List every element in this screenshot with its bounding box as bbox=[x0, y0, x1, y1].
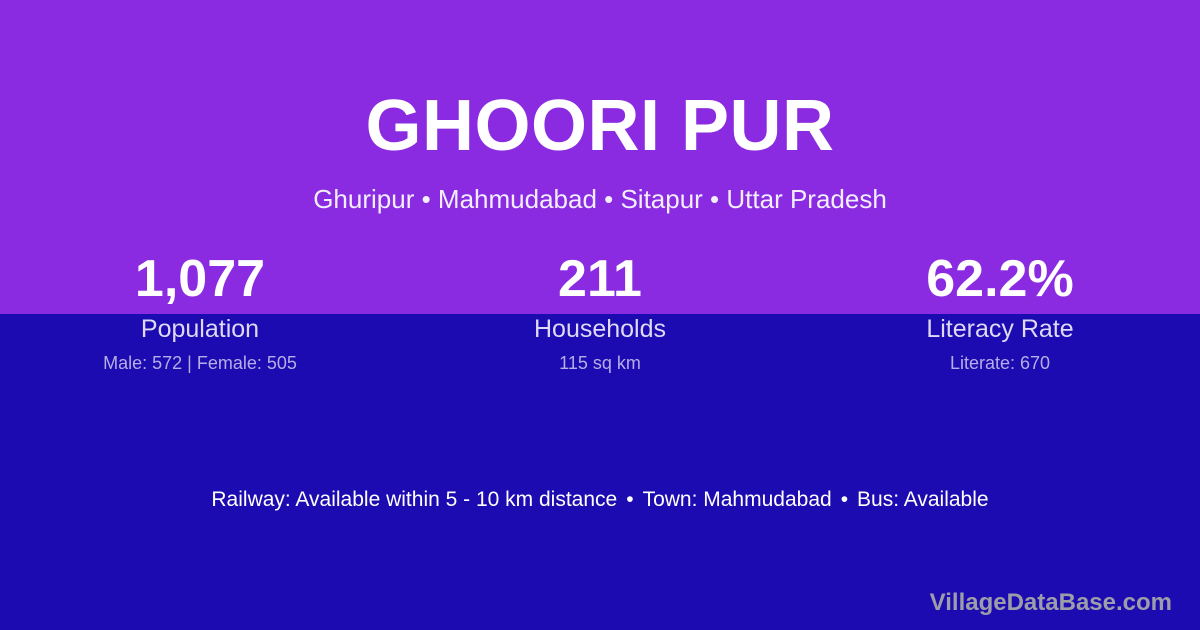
page-title: GHOORI PUR bbox=[0, 86, 1200, 166]
stat-value-literacy-rate: 62.2% bbox=[800, 248, 1200, 310]
stat-value-population: 1,077 bbox=[0, 248, 400, 310]
facilities-summary: Railway: Available within 5 - 10 km dist… bbox=[0, 487, 1200, 513]
stats-row: 1,077 Population Male: 572 | Female: 505… bbox=[0, 248, 1200, 374]
stat-sub-households: 115 sq km bbox=[400, 352, 800, 374]
stat-sub-population: Male: 572 | Female: 505 bbox=[0, 352, 400, 374]
stat-value-households: 211 bbox=[400, 248, 800, 310]
facility-bus: Bus: Available bbox=[857, 488, 989, 511]
stat-label-literacy-rate: Literacy Rate bbox=[800, 314, 1200, 344]
facility-separator-2: • bbox=[832, 487, 857, 513]
facility-railway: Railway: Available within 5 - 10 km dist… bbox=[211, 488, 617, 511]
breadcrumb: Ghuripur • Mahmudabad • Sitapur • Uttar … bbox=[0, 183, 1200, 215]
stat-sub-literacy-rate: Literate: 670 bbox=[800, 352, 1200, 374]
village-info-card: GHOORI PUR Ghuripur • Mahmudabad • Sitap… bbox=[0, 0, 1200, 630]
stat-population: 1,077 Population Male: 572 | Female: 505 bbox=[0, 248, 400, 374]
stat-label-households: Households bbox=[400, 314, 800, 344]
stat-literacy-rate: 62.2% Literacy Rate Literate: 670 bbox=[800, 248, 1200, 374]
stat-label-population: Population bbox=[0, 314, 400, 344]
site-branding: VillageDataBase.com bbox=[930, 588, 1172, 618]
facility-separator-1: • bbox=[617, 487, 642, 513]
facility-town: Town: Mahmudabad bbox=[643, 488, 832, 511]
stat-households: 211 Households 115 sq km bbox=[400, 248, 800, 374]
